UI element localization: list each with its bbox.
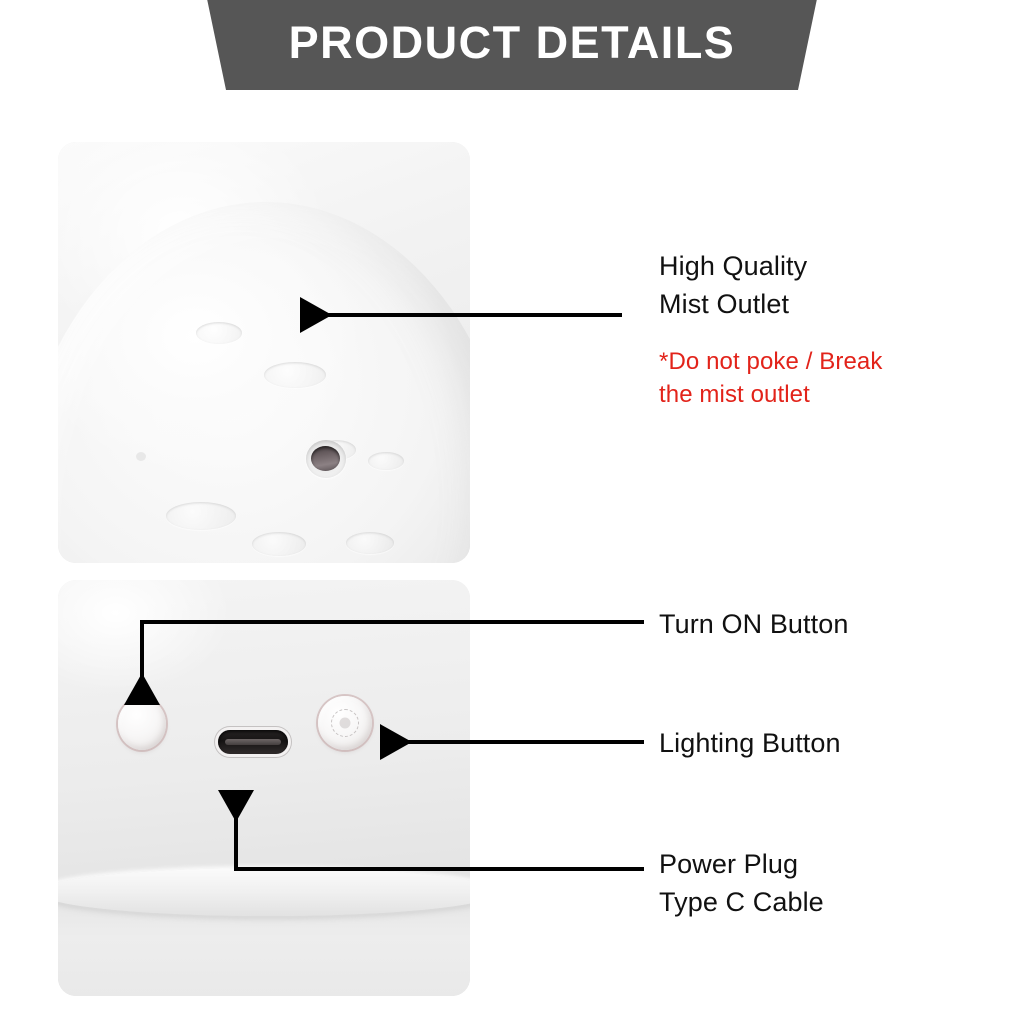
lighting-button-icon[interactable] <box>318 696 372 750</box>
header-banner: PRODUCT DETAILS <box>0 0 1024 90</box>
mist-outlet-photo <box>58 142 470 563</box>
usb-c-tongue <box>225 739 281 745</box>
label-lighting-button: Lighting Button <box>659 724 841 762</box>
mist-outlet-hole-inner <box>311 446 340 471</box>
label-mist-outlet-warning: *Do not poke / Break the mist outlet <box>659 345 882 411</box>
control-panel-photo <box>58 580 470 996</box>
product-details-page: PRODUCT DETAILS <box>0 0 1024 1024</box>
base-ring <box>58 868 470 916</box>
label-mist-outlet: High Quality Mist Outlet <box>659 247 807 323</box>
page-title: PRODUCT DETAILS <box>0 0 1024 90</box>
light-glyph-icon <box>331 709 359 737</box>
usb-c-port-icon <box>218 730 288 754</box>
mist-outlet-hole-icon <box>306 440 346 478</box>
label-turn-on-button: Turn ON Button <box>659 605 848 643</box>
label-power-plug: Power Plug Type C Cable <box>659 845 824 921</box>
power-button-icon[interactable] <box>118 698 166 750</box>
